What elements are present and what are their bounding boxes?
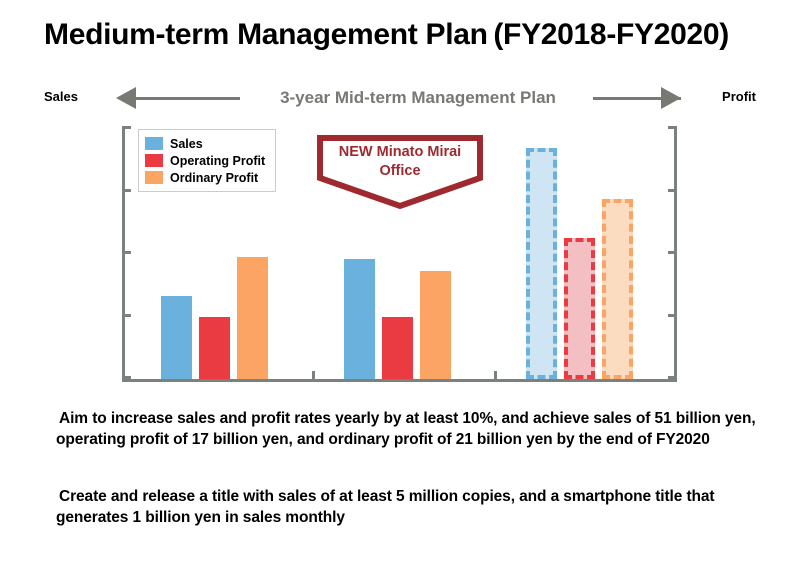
timeline-arrow-label: 3-year Mid-term Management Plan (240, 84, 596, 112)
profit-axis-label: Profit (722, 89, 756, 104)
legend-item: Sales (145, 135, 265, 152)
chart-axis-bottom (122, 379, 677, 382)
axis-tick-right (668, 126, 677, 129)
sales-axis-label: Sales (44, 89, 78, 104)
axis-tick-bottom (494, 371, 497, 380)
bar-sales-group-2 (344, 259, 375, 379)
chart-axis-right (674, 126, 677, 382)
axis-tick-right (668, 251, 677, 254)
bar-operating-profit-group-3 (564, 238, 595, 379)
legend-item: Operating Profit (145, 152, 265, 169)
legend-label: Sales (170, 137, 203, 151)
axis-tick-right (668, 314, 677, 317)
legend-label: Operating Profit (170, 154, 265, 168)
goal-note-sales: Aim to increase sales and profit rates y… (56, 408, 786, 450)
axis-tick-right (668, 189, 677, 192)
arrow-left-line (132, 97, 242, 100)
banner-shield-icon (316, 134, 484, 210)
bar-sales-group-1 (161, 296, 192, 379)
page-title: Medium-term Management Plan (FY2018-FY20… (44, 18, 729, 52)
axis-tick-left (122, 314, 131, 317)
chart-axis-left (122, 126, 125, 382)
legend-label: Ordinary Profit (170, 171, 258, 185)
axis-tick-left (122, 376, 131, 379)
axis-tick-left (122, 251, 131, 254)
timeline-arrow-band: Sales Profit 3-year Mid-term Management … (40, 84, 760, 114)
bar-operating-profit-group-1 (199, 317, 230, 379)
chart-legend: SalesOperating ProfitOrdinary Profit (138, 129, 276, 192)
bar-sales-group-3 (526, 148, 557, 379)
legend-swatch (145, 154, 163, 167)
legend-swatch (145, 137, 163, 150)
bar-ordinary-profit-group-3 (602, 199, 633, 379)
axis-tick-bottom (312, 371, 315, 380)
legend-item: Ordinary Profit (145, 169, 265, 186)
new-office-banner: NEW Minato Mirai Office (316, 134, 484, 210)
axis-tick-left (122, 189, 131, 192)
goal-note-titles: Create and release a title with sales of… (56, 486, 786, 528)
legend-swatch (145, 171, 163, 184)
arrow-right-head-icon (661, 87, 681, 109)
bar-operating-profit-group-2 (382, 317, 413, 379)
axis-tick-right (668, 376, 677, 379)
axis-tick-left (122, 126, 131, 129)
bar-ordinary-profit-group-1 (237, 257, 268, 379)
bar-ordinary-profit-group-2 (420, 271, 451, 379)
